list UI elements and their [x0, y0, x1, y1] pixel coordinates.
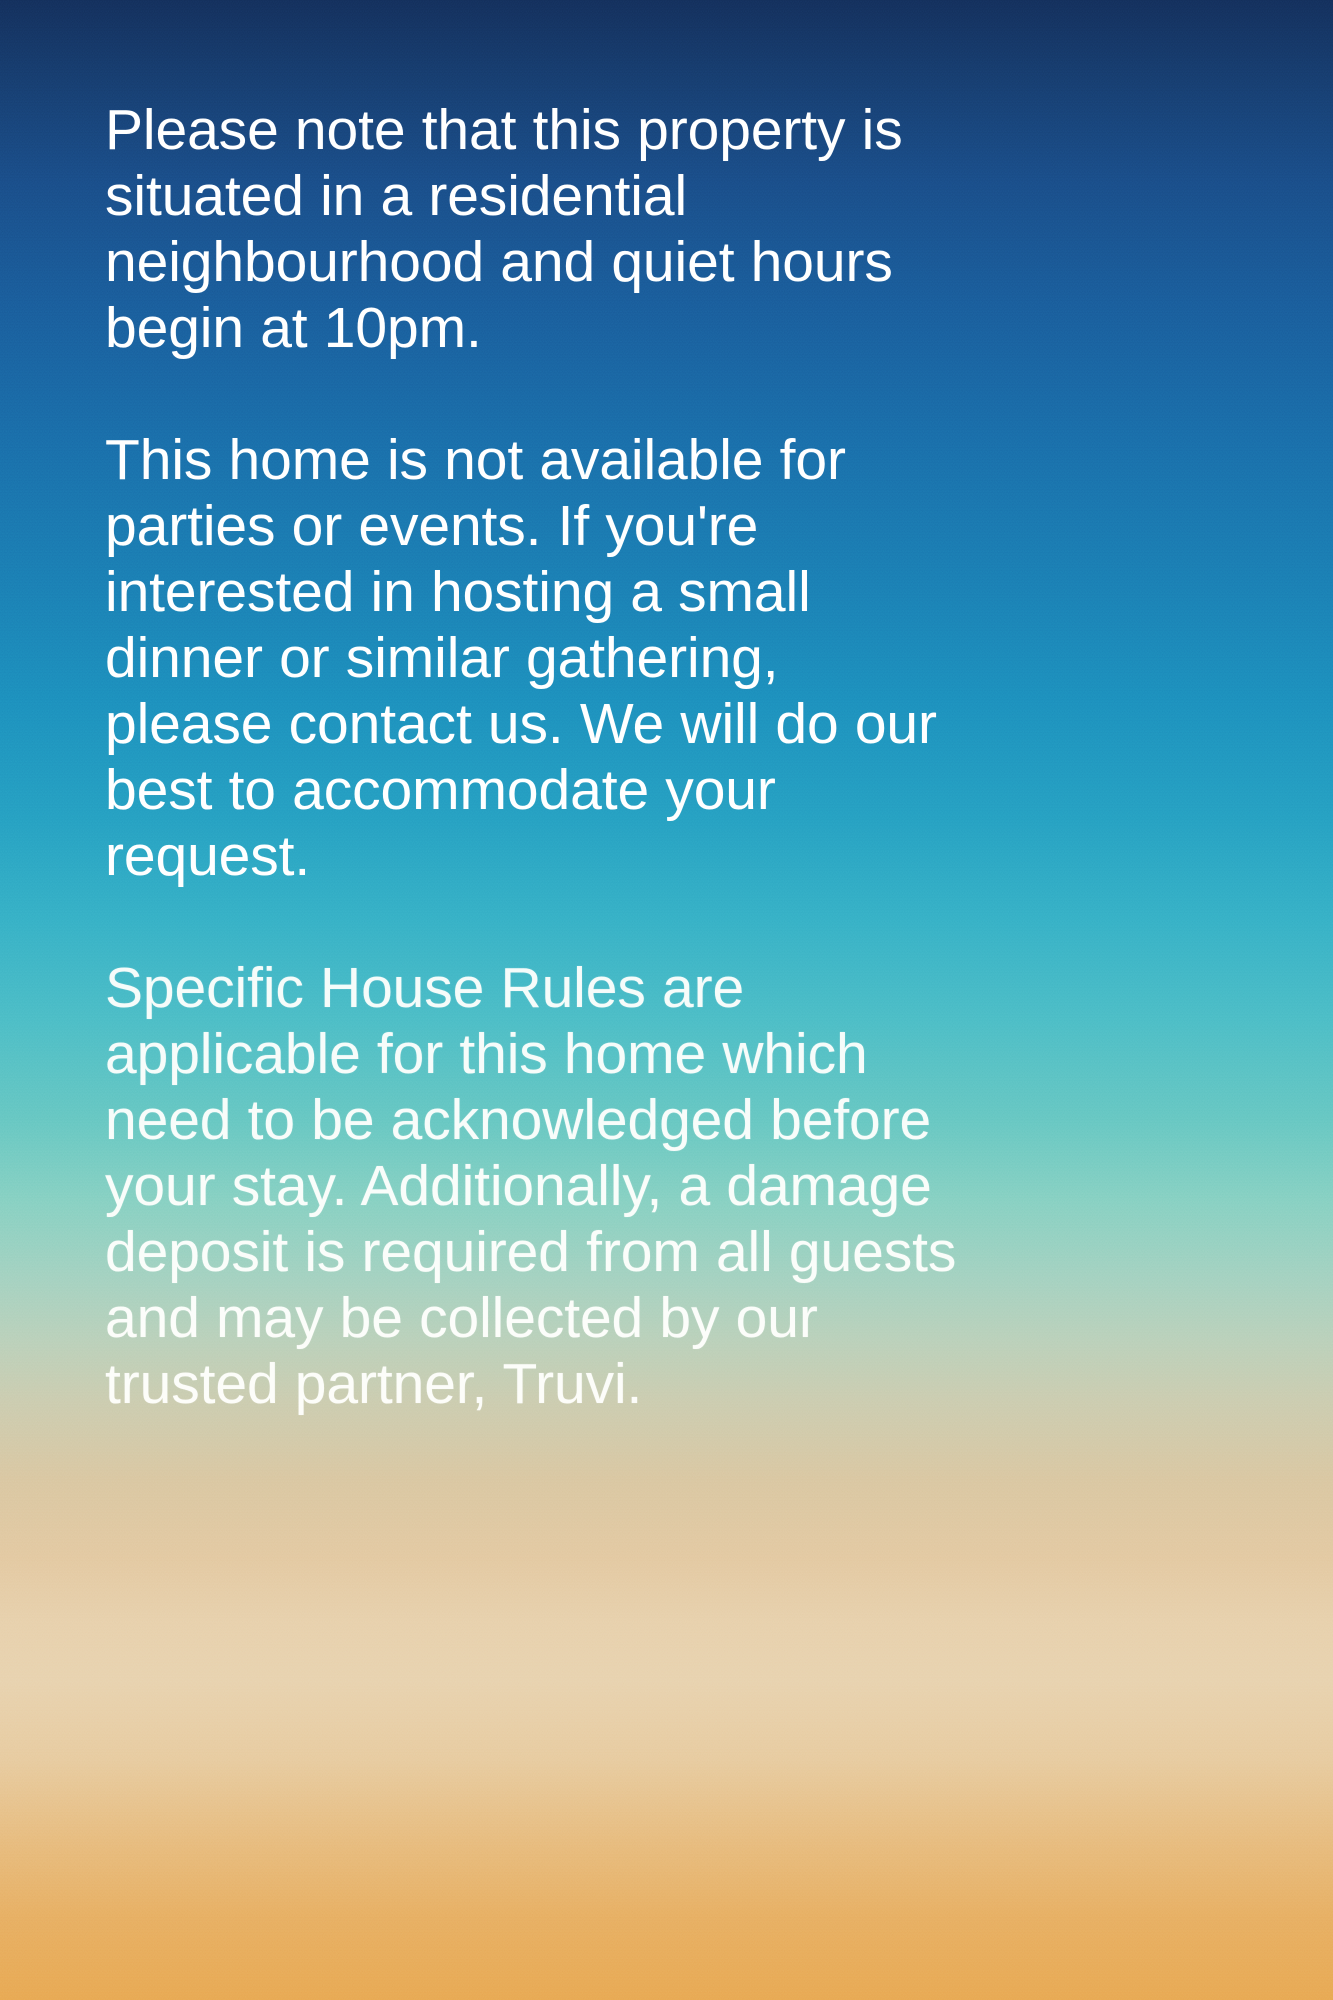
paragraph-quiet-hours: Please note that this property is situat… [105, 97, 957, 361]
paragraph-no-parties: This home is not available for parties o… [105, 427, 957, 889]
house-rules-notice-screen: Please note that this property is situat… [0, 0, 1333, 2000]
paragraph-house-rules-deposit: Specific House Rules are applicable for … [105, 955, 957, 1417]
house-rules-text-block: Please note that this property is situat… [105, 97, 957, 1417]
